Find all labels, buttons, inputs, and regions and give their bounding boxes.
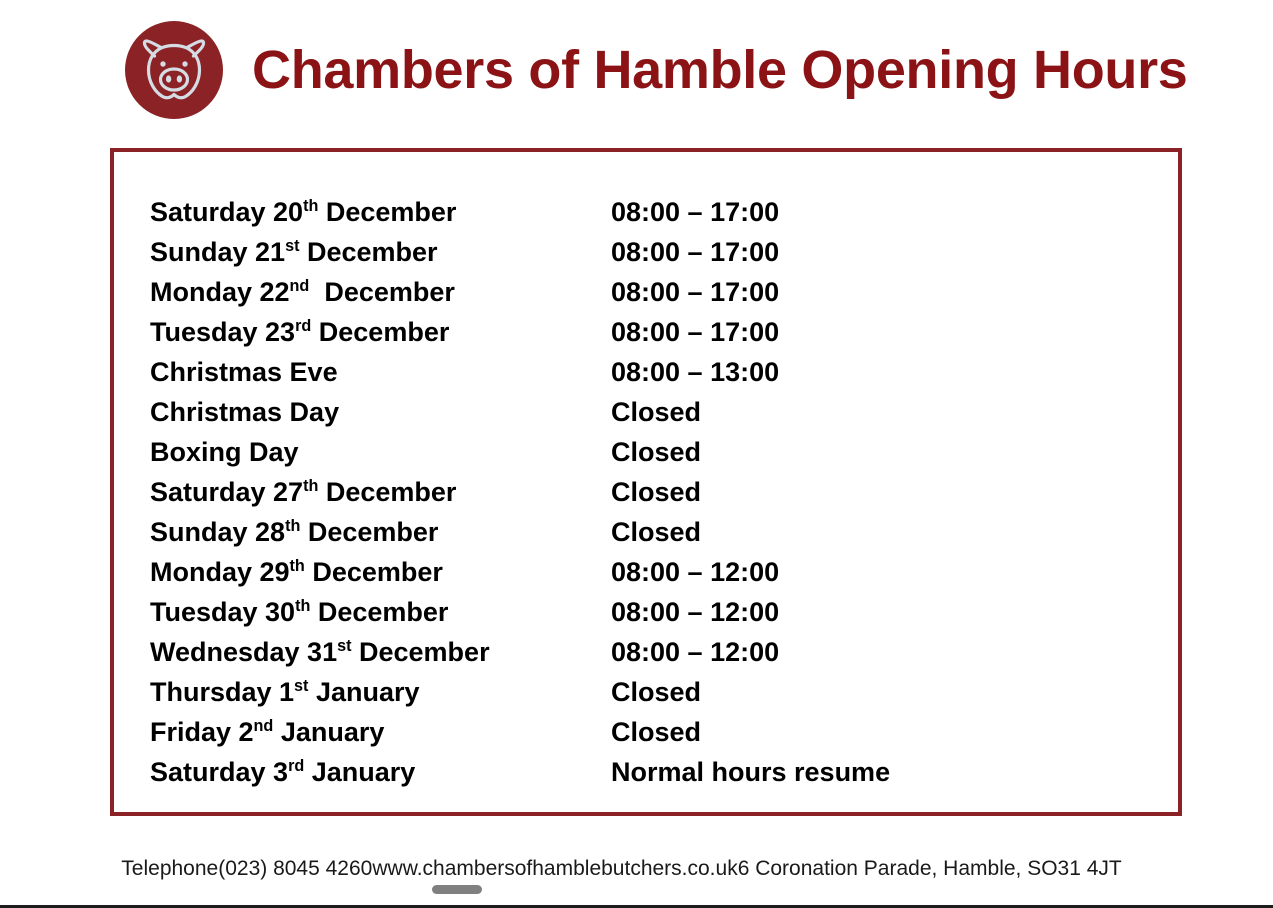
day-tail: December <box>318 197 456 227</box>
hours-cell: 08:00 – 17:00 <box>611 232 1150 272</box>
ordinal-suffix: st <box>294 677 308 695</box>
opening-hours-table: Saturday 20th December 08:00 – 17:00 Sun… <box>150 192 1150 792</box>
pig-head-icon-svg <box>124 20 224 120</box>
table-row: Saturday 27th December Closed <box>150 472 1150 512</box>
table-row: Saturday 20th December 08:00 – 17:00 <box>150 192 1150 232</box>
day-tail: January <box>273 717 384 747</box>
hours-cell: 08:00 – 12:00 <box>611 552 1150 592</box>
hours-cell: Normal hours resume <box>611 752 1150 792</box>
ordinal-suffix: st <box>285 237 299 255</box>
hours-cell: Closed <box>611 512 1150 552</box>
hours-cell: 08:00 – 13:00 <box>611 352 1150 392</box>
day-text: Boxing Day <box>150 437 299 467</box>
day-text: Christmas Day <box>150 397 339 427</box>
opening-hours-panel: Saturday 20th December 08:00 – 17:00 Sun… <box>110 148 1182 816</box>
day-cell: Boxing Day <box>150 432 611 472</box>
ordinal-suffix: rd <box>288 757 304 775</box>
day-tail: December <box>309 277 455 307</box>
telephone-number: (023) 8045 4260 <box>218 857 372 880</box>
day-tail: December <box>299 237 437 267</box>
day-text: Saturday 27 <box>150 477 303 507</box>
ordinal-suffix: th <box>303 477 318 495</box>
day-text: Monday 29 <box>150 557 290 587</box>
table-row: Tuesday 30th December 08:00 – 12:00 <box>150 592 1150 632</box>
hours-cell: Closed <box>611 712 1150 752</box>
ordinal-suffix: th <box>295 597 310 615</box>
table-row: Christmas Day Closed <box>150 392 1150 432</box>
ordinal-suffix: th <box>303 197 318 215</box>
day-cell: Tuesday 30th December <box>150 592 611 632</box>
table-row: Saturday 3rd January Normal hours resume <box>150 752 1150 792</box>
day-text: Tuesday 23 <box>150 317 295 347</box>
page-header: Chambers of Hamble Opening Hours <box>0 0 1273 140</box>
table-row: Friday 2nd January Closed <box>150 712 1150 752</box>
day-cell: Friday 2nd January <box>150 712 611 752</box>
day-text: Tuesday 30 <box>150 597 295 627</box>
ordinal-suffix: st <box>337 637 351 655</box>
day-text: Thursday 1 <box>150 677 294 707</box>
table-row: Monday 29th December 08:00 – 12:00 <box>150 552 1150 592</box>
ordinal-suffix: rd <box>295 317 311 335</box>
day-tail: December <box>300 517 438 547</box>
day-tail: December <box>305 557 443 587</box>
address-text: 6 Coronation Parade, Hamble, SO31 4JT <box>738 857 1122 880</box>
ordinal-suffix: nd <box>254 717 274 735</box>
hours-cell: 08:00 – 17:00 <box>611 312 1150 352</box>
day-tail: December <box>318 477 456 507</box>
table-row: Wednesday 31st December 08:00 – 12:00 <box>150 632 1150 672</box>
opening-hours-table-body: Saturday 20th December 08:00 – 17:00 Sun… <box>150 192 1150 792</box>
table-row: Boxing Day Closed <box>150 432 1150 472</box>
table-row: Christmas Eve 08:00 – 13:00 <box>150 352 1150 392</box>
day-text: Saturday 3 <box>150 757 288 787</box>
table-row: Tuesday 23rd December 08:00 – 17:00 <box>150 312 1150 352</box>
page-title: Chambers of Hamble Opening Hours <box>252 43 1188 97</box>
hours-cell: Closed <box>611 472 1150 512</box>
hours-cell: Closed <box>611 672 1150 712</box>
telephone-label: Telephone <box>121 857 218 880</box>
day-cell: Saturday 3rd January <box>150 752 611 792</box>
hours-cell: 08:00 – 12:00 <box>611 592 1150 632</box>
ordinal-suffix: th <box>285 517 300 535</box>
day-cell: Thursday 1st January <box>150 672 611 712</box>
day-tail: January <box>304 757 415 787</box>
day-cell: Monday 29th December <box>150 552 611 592</box>
pig-head-icon <box>124 20 224 120</box>
hours-cell: 08:00 – 17:00 <box>611 272 1150 312</box>
table-row: Thursday 1st January Closed <box>150 672 1150 712</box>
hours-cell: Closed <box>611 392 1150 432</box>
day-cell: Christmas Day <box>150 392 611 432</box>
ordinal-suffix: th <box>290 557 305 575</box>
scroll-drag-handle[interactable] <box>432 885 482 894</box>
table-row: Sunday 21st December 08:00 – 17:00 <box>150 232 1150 272</box>
day-cell: Wednesday 31st December <box>150 632 611 672</box>
day-text: Monday 22 <box>150 277 290 307</box>
day-cell: Saturday 27th December <box>150 472 611 512</box>
day-text: Sunday 28 <box>150 517 285 547</box>
hours-cell: 08:00 – 12:00 <box>611 632 1150 672</box>
day-cell: Sunday 21st December <box>150 232 611 272</box>
ordinal-suffix: nd <box>290 277 310 295</box>
day-cell: Christmas Eve <box>150 352 611 392</box>
day-cell: Sunday 28th December <box>150 512 611 552</box>
day-text: Saturday 20 <box>150 197 303 227</box>
day-tail: December <box>352 637 490 667</box>
table-row: Monday 22nd December 08:00 – 17:00 <box>150 272 1150 312</box>
day-text: Friday 2 <box>150 717 254 747</box>
contact-footer: Telephone(023) 8045 4260www.chambersofha… <box>110 824 1210 884</box>
website-link[interactable]: www.chambersofhamblebutchers.co.uk <box>372 857 737 880</box>
day-text: Wednesday 31 <box>150 637 337 667</box>
day-tail: December <box>311 317 449 347</box>
day-cell: Saturday 20th December <box>150 192 611 232</box>
day-tail: December <box>310 597 448 627</box>
day-tail: January <box>308 677 419 707</box>
day-cell: Tuesday 23rd December <box>150 312 611 352</box>
hours-cell: Closed <box>611 432 1150 472</box>
day-text: Christmas Eve <box>150 357 338 387</box>
day-text: Sunday 21 <box>150 237 285 267</box>
hours-cell: 08:00 – 17:00 <box>611 192 1150 232</box>
day-cell: Monday 22nd December <box>150 272 611 312</box>
table-row: Sunday 28th December Closed <box>150 512 1150 552</box>
